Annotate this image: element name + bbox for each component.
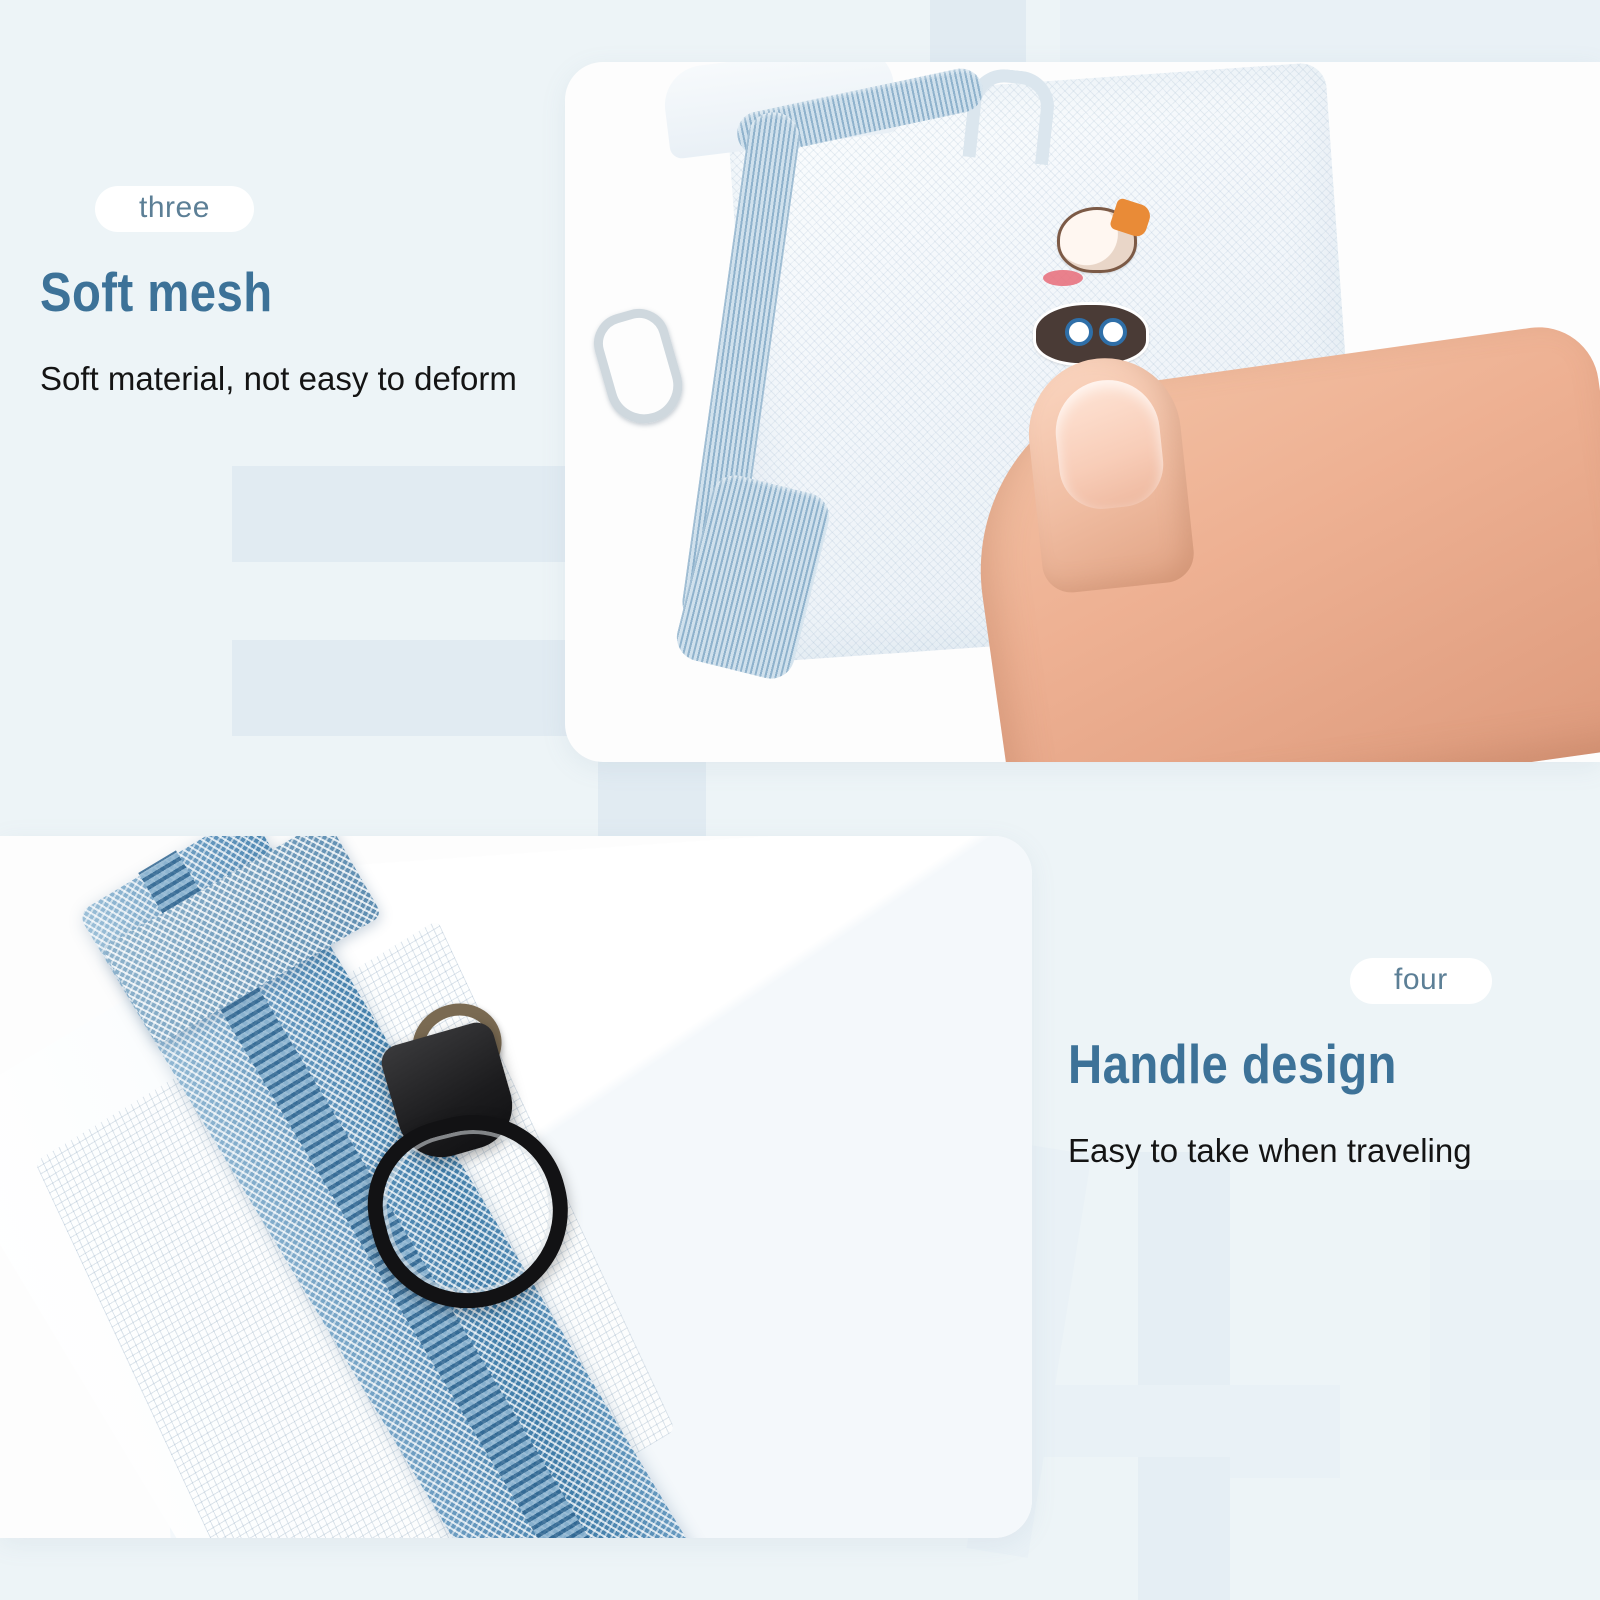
soft-mesh-photo [565,62,1600,762]
sticker-owl-eye-right [1099,318,1127,346]
photo-panel-soft-mesh [565,62,1600,762]
step-badge-four: four [1350,958,1492,1004]
feature-headline-soft-mesh: Soft mesh [40,260,450,324]
sticker-owl-eye-left [1065,318,1093,346]
handle-design-photo [0,836,1032,1538]
sticker-hearts [1043,270,1083,286]
feature-text-handle-design: four Handle design Easy to take when tra… [1060,958,1492,1170]
watermark-four-stem [1138,1152,1230,1600]
step-badge-three: three [95,186,254,232]
feature-text-soft-mesh: three Soft mesh Soft material, not easy … [40,186,517,398]
feature-subline-handle-design: Easy to take when traveling [1068,1132,1492,1170]
watermark-four-tail [1230,1420,1340,1478]
deco-rect-top-c [1352,0,1600,62]
photo-panel-handle-design [0,836,1032,1538]
feature-headline-handle-design: Handle design [1068,1032,1432,1096]
deco-rect-right-edge [1430,1180,1600,1480]
product-feature-infographic: three Soft mesh Soft material, not easy … [0,0,1600,1600]
feature-subline-soft-mesh: Soft material, not easy to deform [40,360,517,398]
watermark-four-crossbar [1030,1385,1340,1457]
carabiner-clip-icon [587,302,691,433]
